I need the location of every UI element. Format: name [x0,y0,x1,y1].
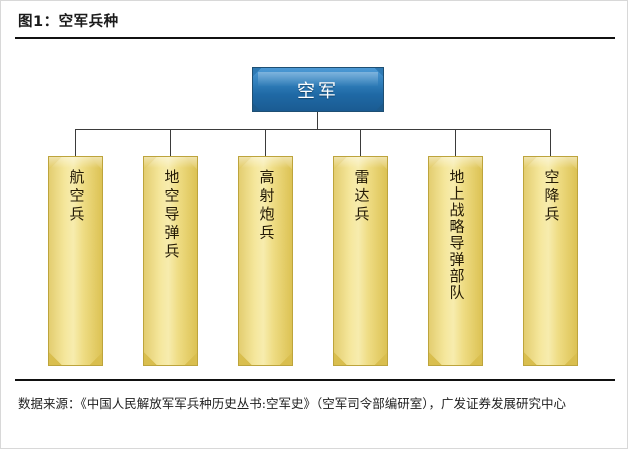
footer-divider [15,379,615,381]
branch-node-4[interactable]: 雷达兵 [333,156,388,366]
branch-node-1[interactable]: 航空兵 [48,156,103,366]
connector-drop-4 [360,129,361,156]
branch-node-label-2: 地空导弹兵 [163,169,179,365]
branch-node-label-5: 地上战略导弹部队 [448,169,464,365]
branch-node-5[interactable]: 地上战略导弹部队 [428,156,483,366]
branch-node-2[interactable]: 地空导弹兵 [143,156,198,366]
figure-container: 图1：空军兵种 空军 航空兵 地空导弹兵 高射炮兵 雷达兵 地上战略导弹部队 空… [0,0,628,449]
connector-drop-6 [550,129,551,156]
branch-node-3[interactable]: 高射炮兵 [238,156,293,366]
connector-drop-3 [265,129,266,156]
source-note: 数据来源：《中国人民解放军军兵种历史丛书:空军史》（空军司令部编研室），广发证券… [18,392,608,416]
connector-horizontal-bus [75,129,550,130]
root-node-label: 空军 [297,77,339,103]
root-node-air-force[interactable]: 空军 [252,67,384,112]
org-chart-diagram: 空军 航空兵 地空导弹兵 高射炮兵 雷达兵 地上战略导弹部队 空降兵 [1,39,628,379]
connector-drop-1 [75,129,76,156]
connector-drop-2 [170,129,171,156]
branch-node-label-6: 空降兵 [543,169,559,365]
branch-node-label-4: 雷达兵 [353,169,369,365]
figure-title: 图1：空军兵种 [18,10,119,31]
connector-drop-5 [455,129,456,156]
connector-root-vertical [317,112,318,129]
branch-node-label-3: 高射炮兵 [258,169,274,365]
branch-node-label-1: 航空兵 [68,169,84,365]
branch-node-6[interactable]: 空降兵 [523,156,578,366]
